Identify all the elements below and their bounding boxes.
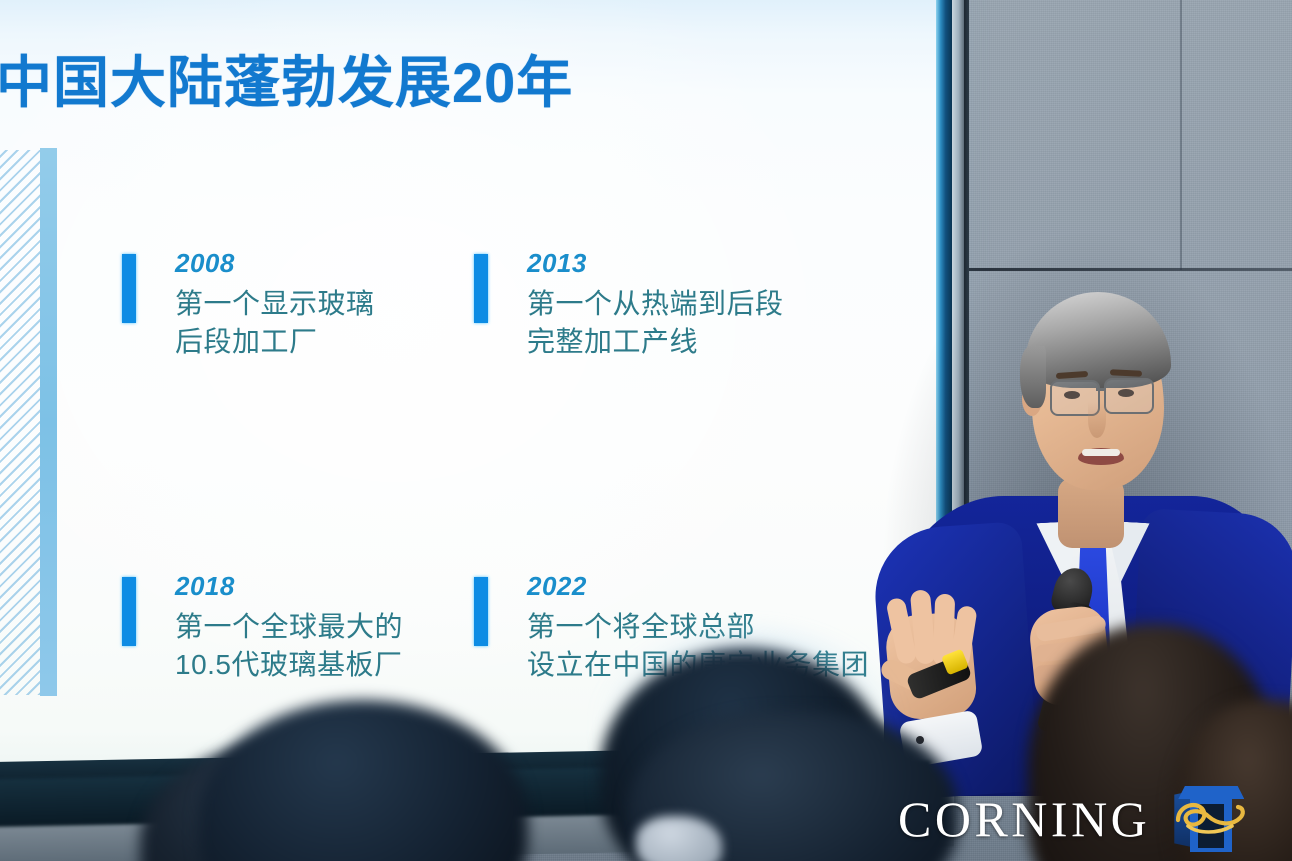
milestone-line-1: 第一个显示玻璃 <box>175 285 375 323</box>
milestone-accent-bar <box>122 254 136 323</box>
decorative-stripes <box>0 150 40 695</box>
speaker-cufflink <box>916 736 924 744</box>
speaker-hair-side <box>1020 346 1046 408</box>
speaker-teeth <box>1082 449 1120 456</box>
milestone-grid: 2008 第一个显示玻璃 后段加工厂 2013 第一个从热端到后段 完整加工产线 <box>122 250 922 684</box>
decorative-vertical-bar <box>40 148 57 696</box>
milestone-year: 2018 <box>175 573 403 599</box>
milestone-year: 2008 <box>175 250 375 276</box>
speaker-glasses-bridge <box>1096 388 1106 391</box>
speaker-cufflink <box>1112 756 1122 766</box>
milestone-year: 2022 <box>527 573 869 599</box>
milestone-accent-bar <box>474 254 488 323</box>
presentation-slide: 中国大陆蓬勃发展20年 2008 第一个显示玻璃 后段加工厂 <box>0 0 939 764</box>
milestone-2008: 2008 第一个显示玻璃 后段加工厂 <box>122 250 474 362</box>
milestone-line-1: 第一个将全球总部 <box>527 608 869 646</box>
milestone-line-2: 10.5代玻璃基板厂 <box>175 646 403 684</box>
milestone-accent-bar <box>122 577 136 646</box>
milestone-text: 2018 第一个全球最大的 10.5代玻璃基板厂 <box>175 573 403 685</box>
milestone-row-bottom: 2018 第一个全球最大的 10.5代玻璃基板厂 2022 第一个将全球总部 设… <box>122 573 922 685</box>
speaker-figure <box>880 196 1292 796</box>
milestone-text: 2022 第一个将全球总部 设立在中国的康宁业务集团 <box>527 573 869 685</box>
milestone-line-1: 第一个从热端到后段 <box>527 285 784 323</box>
milestone-text: 2008 第一个显示玻璃 后段加工厂 <box>175 250 375 362</box>
screenshot-stage: 中国大陆蓬勃发展20年 2008 第一个显示玻璃 后段加工厂 <box>0 0 1292 861</box>
milestone-2013: 2013 第一个从热端到后段 完整加工产线 <box>474 250 904 362</box>
milestone-line-2: 后段加工厂 <box>175 323 375 361</box>
milestone-year: 2013 <box>527 250 784 276</box>
speaker-nose <box>1088 402 1106 438</box>
milestone-2018: 2018 第一个全球最大的 10.5代玻璃基板厂 <box>122 573 474 685</box>
slide-title: 中国大陆蓬勃发展20年 <box>0 38 573 119</box>
milestone-line-1: 第一个全球最大的 <box>175 608 403 646</box>
milestone-accent-bar <box>474 577 488 646</box>
milestone-line-2: 设立在中国的康宁业务集团 <box>527 646 869 684</box>
milestone-line-2: 完整加工产线 <box>527 323 784 361</box>
corning-logo: CORNING <box>898 784 1248 854</box>
speaker-glasses-right-lens <box>1104 378 1154 414</box>
milestone-2022: 2022 第一个将全球总部 设立在中国的康宁业务集团 <box>474 573 904 685</box>
projection-screen: 中国大陆蓬勃发展20年 2008 第一个显示玻璃 后段加工厂 <box>0 0 946 768</box>
corning-wordmark: CORNING <box>898 794 1150 844</box>
emblem-ribbon-icon <box>1174 790 1248 848</box>
corning-gate-emblem-icon <box>1174 784 1248 854</box>
speaker-watch-face <box>1098 692 1132 726</box>
milestone-row-top: 2008 第一个显示玻璃 后段加工厂 2013 第一个从热端到后段 完整加工产线 <box>122 250 922 362</box>
milestone-text: 2013 第一个从热端到后段 完整加工产线 <box>527 250 784 362</box>
